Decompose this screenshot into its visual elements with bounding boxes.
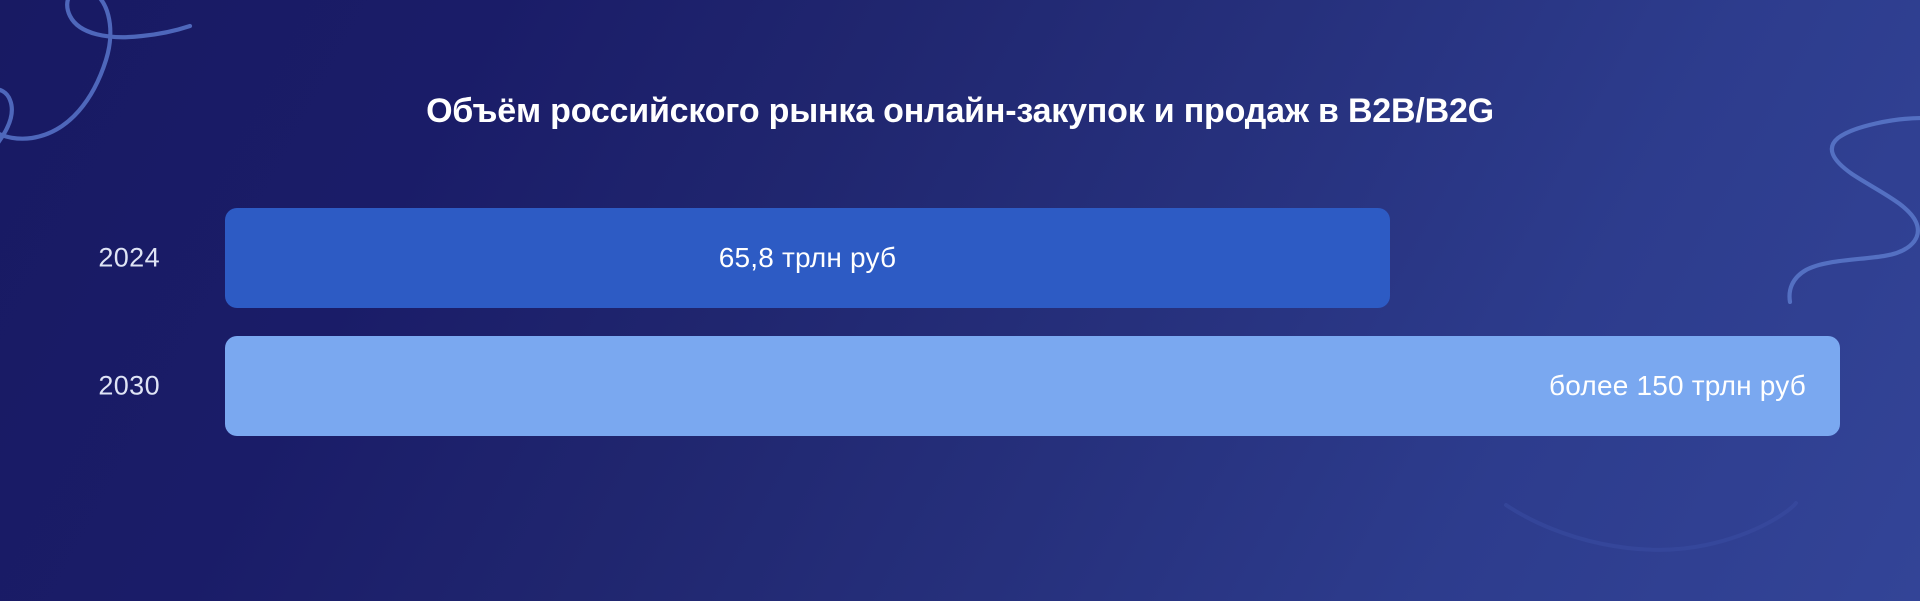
category-label-2024: 2024 bbox=[0, 243, 160, 274]
bar-2024[interactable]: 65,8 трлн руб bbox=[225, 208, 1390, 308]
chart-title: Объём российского рынка онлайн-закупок и… bbox=[0, 92, 1920, 131]
bar-row-2024: 2024 65,8 трлн руб bbox=[0, 208, 1920, 308]
bar-value-label-2024: 65,8 трлн руб bbox=[719, 242, 897, 274]
bar-value-label-2030: более 150 трлн руб bbox=[1549, 370, 1806, 402]
bar-2030[interactable]: более 150 трлн руб bbox=[225, 336, 1840, 436]
chart-canvas: Объём российского рынка онлайн-закупок и… bbox=[0, 0, 1920, 601]
bar-row-2030: 2030 более 150 трлн руб bbox=[0, 336, 1920, 436]
chart-plot-area: 2024 65,8 трлн руб 2030 более 150 трлн р… bbox=[0, 208, 1920, 464]
squiggle-loop-icon bbox=[0, 0, 226, 174]
category-label-2030: 2030 bbox=[0, 371, 160, 402]
squiggle-curve-icon bbox=[1500, 501, 1800, 601]
